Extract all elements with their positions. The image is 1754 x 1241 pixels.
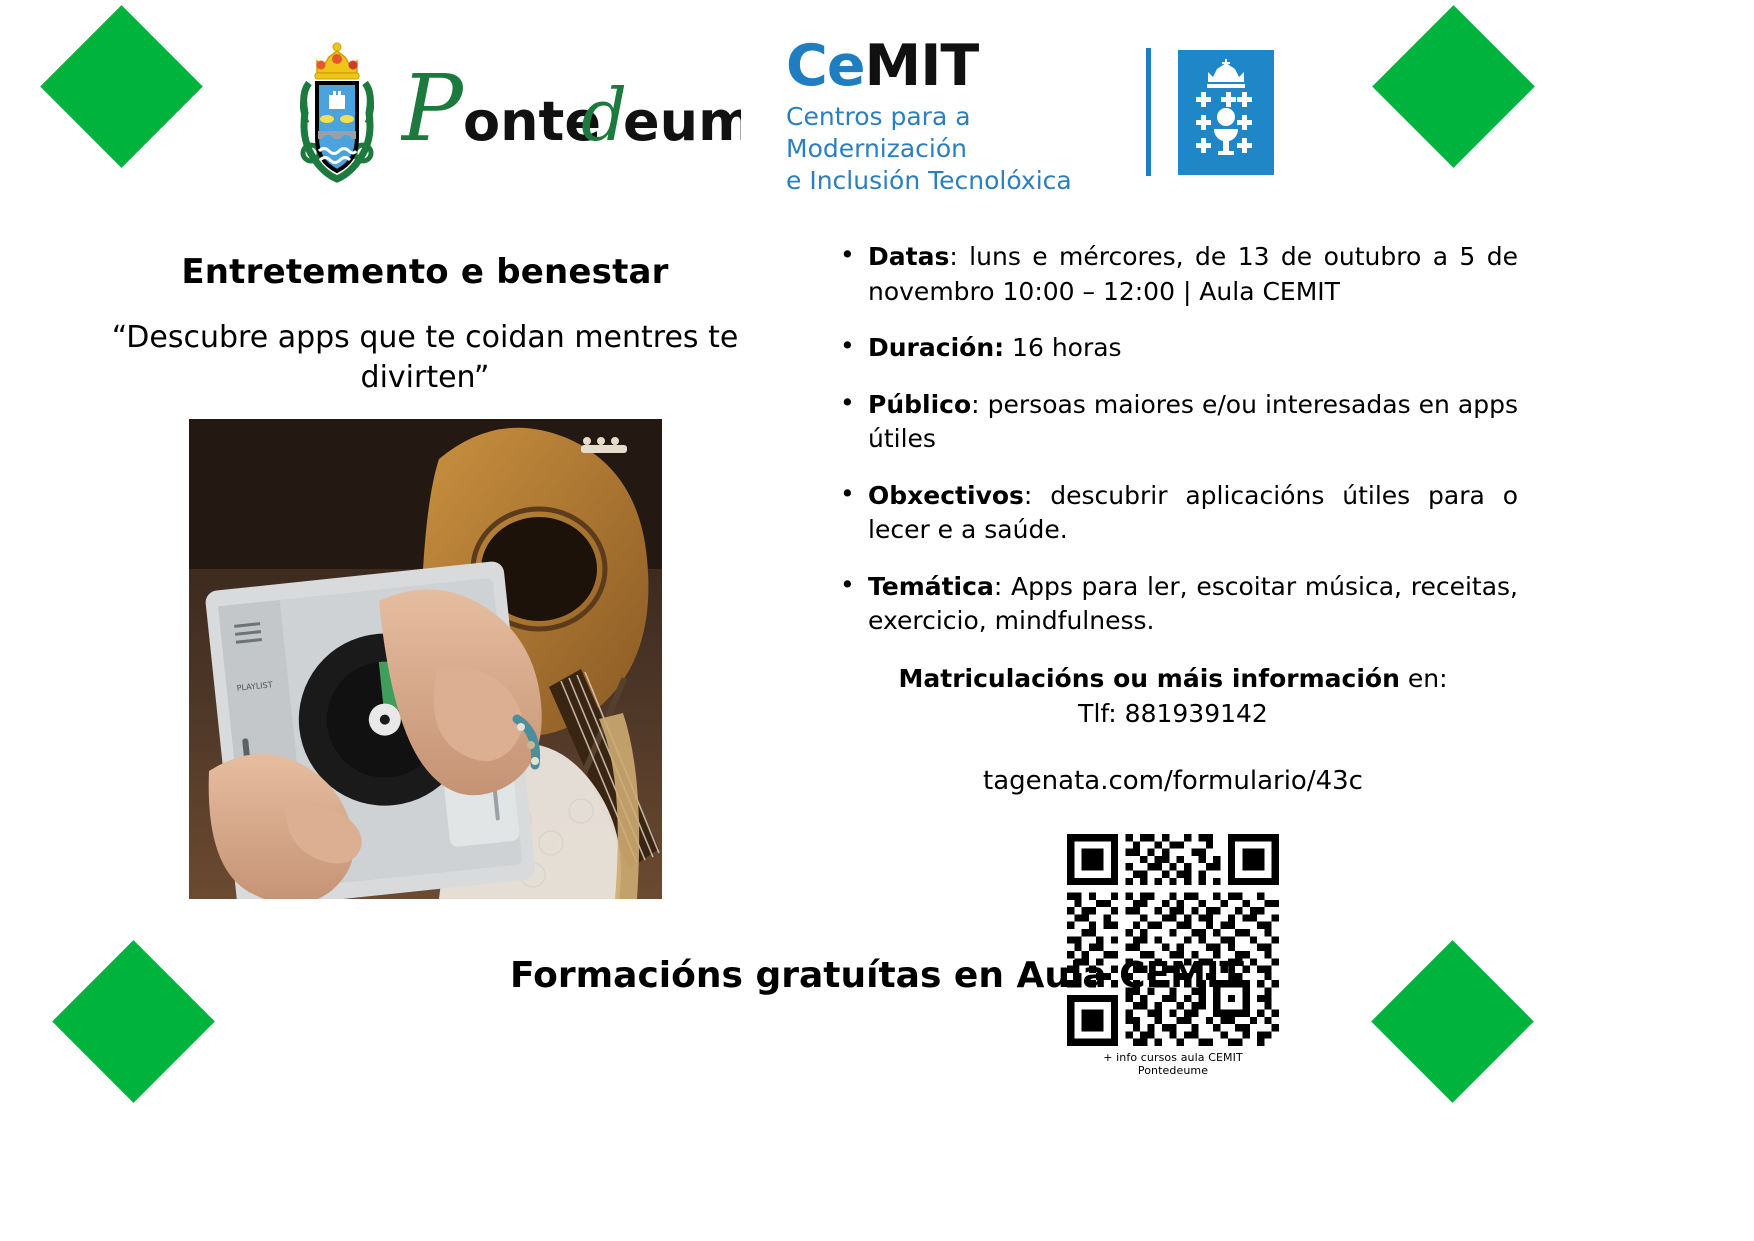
header-logos: P onte d eume CeMIT Centros para a Moder… [0, 14, 1754, 190]
course-quote: “Descubre apps que te coidan mentres te … [80, 318, 770, 397]
cemit-brand-mit: MIT [865, 33, 979, 99]
page-title: Entretemento e benestar [80, 252, 770, 292]
detail-text: luns e mércores, de 13 de outubro a 5 de… [868, 242, 1518, 306]
detail-separator: : [994, 572, 1002, 601]
svg-text:d: d [581, 73, 627, 157]
detail-label: Público [868, 390, 971, 419]
pontedeume-coat-of-arms-icon [287, 33, 387, 183]
list-item: Obxectivos: descubrir aplicacións útiles… [828, 479, 1518, 548]
list-item: Duración: 16 horas [828, 331, 1518, 366]
qr-code-icon[interactable] [1067, 834, 1279, 1046]
svg-text:P: P [401, 55, 465, 162]
detail-separator: : [949, 242, 957, 271]
detail-label: Datas [868, 242, 949, 271]
list-item: Público: persoas maiores e/ou interesada… [828, 388, 1518, 457]
xunta-de-galicia-emblem-icon [1178, 50, 1274, 175]
detail-separator: : [971, 390, 979, 419]
cemit-brand-ce: Ce [786, 33, 865, 99]
pontedeume-logo: P onte d eume [287, 28, 737, 188]
cemit-subtitle: Centros para a Modernización e Inclusión… [786, 101, 1136, 197]
detail-label: Obxectivos [868, 481, 1024, 510]
cemit-brand: CeMIT [786, 38, 1136, 95]
course-summary-panel: Entretemento e benestar “Descubre apps q… [80, 252, 770, 899]
enrollment-heading: Matriculacións ou máis información en: [828, 661, 1518, 697]
details-list: Datas: luns e mércores, de 13 de outubro… [828, 240, 1518, 639]
course-details-panel: Datas: luns e mércores, de 13 de outubro… [828, 240, 1518, 1077]
pontedeume-wordmark: P onte d eume [401, 48, 741, 168]
enrollment-phone: Tlf: 881939142 [828, 696, 1518, 732]
cemit-logo: CeMIT Centros para a Modernización e Inc… [786, 38, 1136, 188]
qr-caption: + info cursos aula CEMIT Pontedeume [1067, 1051, 1279, 1077]
cemit-subtitle-line-2: e Inclusión Tecnolóxica [786, 165, 1136, 197]
detail-label: Temática [868, 572, 994, 601]
enrollment-info: Matriculacións ou máis información en: T… [828, 661, 1518, 732]
footer-banner: Formacións gratuítas en Aula CEMIT [0, 955, 1754, 996]
detail-label: Duración: [868, 333, 1004, 362]
list-item: Temática: Apps para ler, escoitar música… [828, 570, 1518, 639]
svg-text:eume: eume [623, 90, 741, 153]
detail-text: 16 horas [1004, 333, 1121, 362]
cemit-subtitle-line-1: Centros para a Modernización [786, 101, 1136, 165]
enrollment-url[interactable]: tagenata.com/formulario/43c [828, 766, 1518, 796]
list-item: Datas: luns e mércores, de 13 de outubro… [828, 240, 1518, 309]
header-vertical-divider [1146, 48, 1151, 176]
enrollment-heading-bold: Matriculacións ou máis información [899, 664, 1400, 693]
course-photo: PLAYLIST [189, 419, 662, 899]
enrollment-heading-tail: en: [1400, 664, 1448, 693]
